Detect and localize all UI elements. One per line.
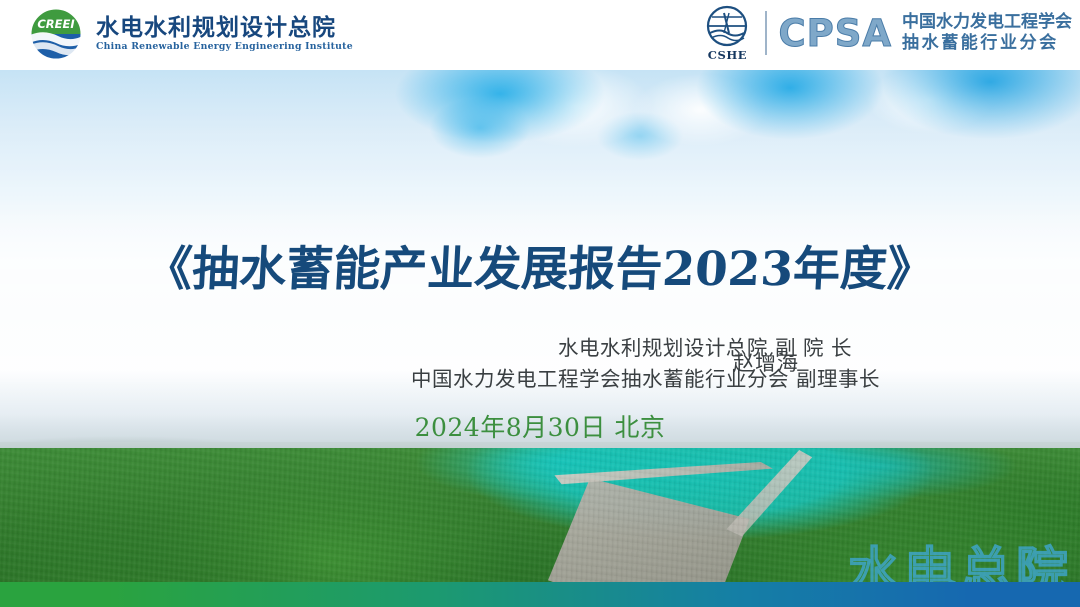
svg-text:CREEI: CREEI	[37, 17, 75, 31]
slide-text-block: 《抽水蓄能产业发展报告2023年度》 水电水利规划设计总院 副 院 长 中国水力…	[0, 70, 1080, 582]
date-location: 2024年8月30日 北京	[415, 408, 666, 444]
cpsa-name-cn: 中国水力发电工程学会 抽水蓄能行业分会	[902, 12, 1072, 55]
slide-header: CREEI 水电水利规划设计总院 China Renewable Energy …	[0, 0, 1080, 70]
creei-logo-text: 水电水利规划设计总院 China Renewable Energy Engine…	[96, 16, 353, 52]
creei-name-cn: 水电水利规划设计总院	[96, 16, 353, 40]
presenter-name: 赵增海	[733, 347, 799, 377]
cshe-caption: CSHE	[698, 48, 756, 62]
slide-title: 《抽水蓄能产业发展报告2023年度》	[0, 230, 1080, 299]
creei-circular-logo-icon: CREEI	[26, 4, 86, 64]
affiliation-block: 水电水利规划设计总院 副 院 长 中国水力发电工程学会抽水蓄能行业分会 副理事长…	[0, 333, 1080, 395]
date-location-wrapper: 2024年8月30日 北京	[0, 408, 1080, 444]
footer-gradient-bar	[0, 582, 1080, 607]
presentation-slide: CREEI 水电水利规划设计总院 China Renewable Energy …	[0, 0, 1080, 607]
creei-logo-group: CREEI 水电水利规划设计总院 China Renewable Energy …	[26, 4, 353, 64]
cshe-circular-logo-icon: CSHE	[698, 5, 756, 61]
logo-divider	[765, 11, 767, 55]
cpsa-wordmark: CPSA	[778, 15, 892, 52]
cpsa-name-cn-line2: 抽水蓄能行业分会	[902, 33, 1072, 54]
creei-name-en: China Renewable Energy Engineering Insti…	[96, 42, 353, 52]
cpsa-name-cn-line1: 中国水力发电工程学会	[902, 12, 1072, 33]
cpsa-logo-group: CSHE CPSA 中国水力发电工程学会 抽水蓄能行业分会	[698, 5, 1072, 61]
